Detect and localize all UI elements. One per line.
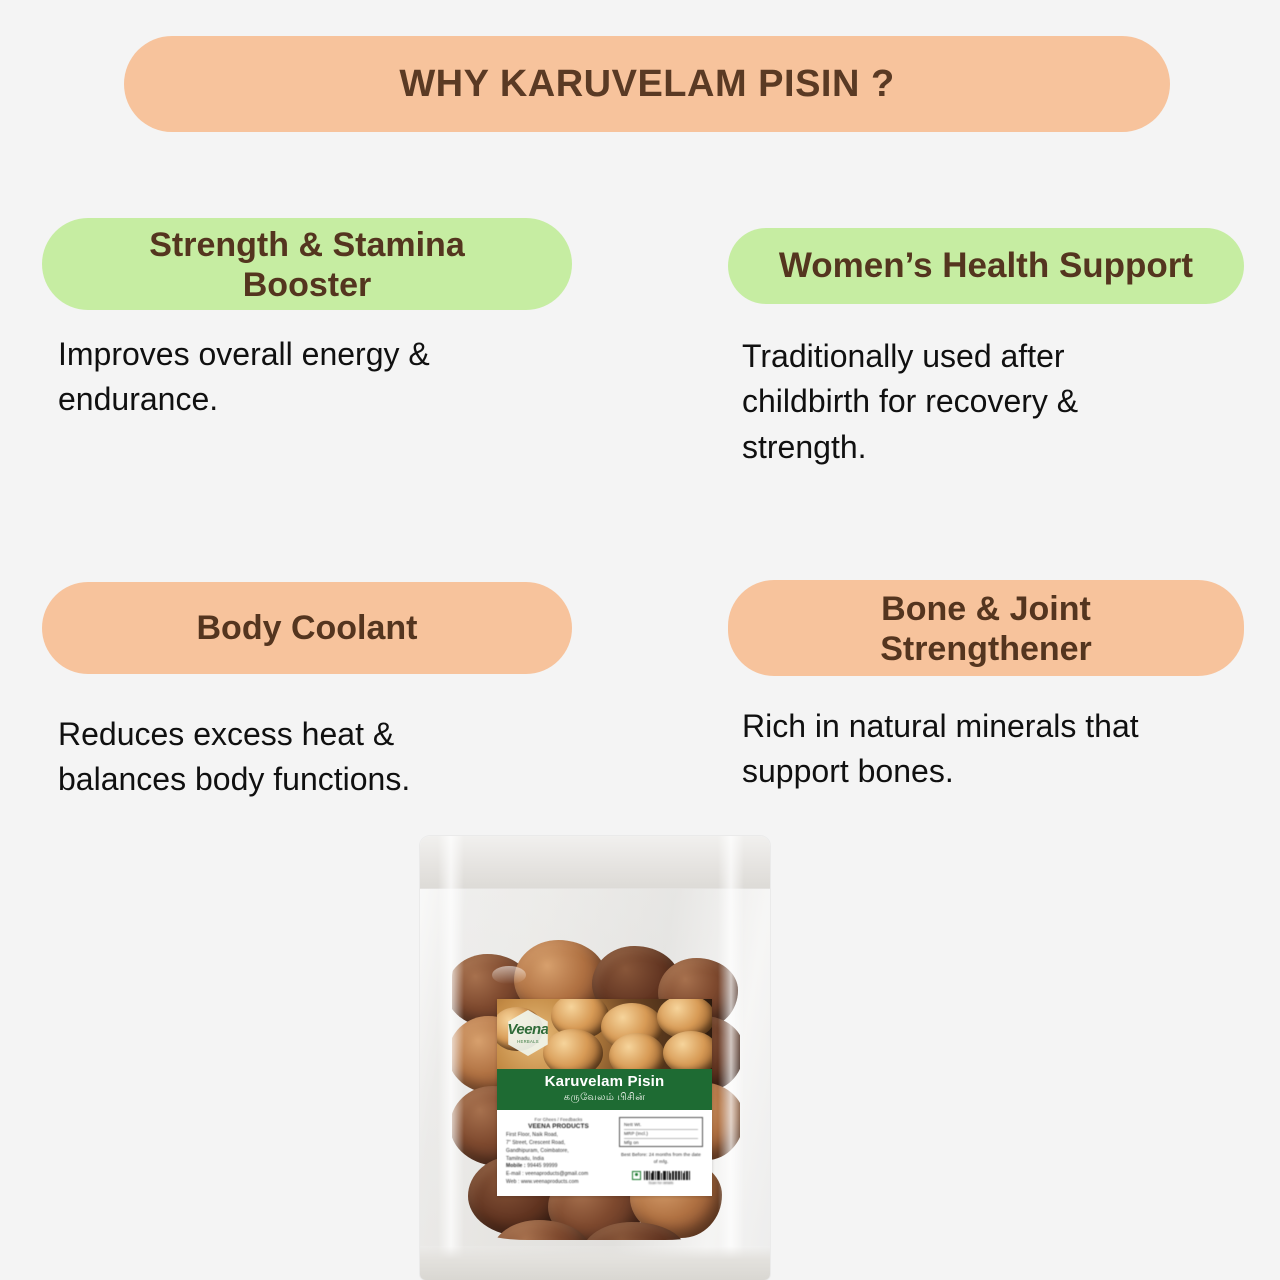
label-net-row-0: Nett Wt.	[624, 1121, 698, 1130]
label-address-line-3: Tamilnadu, India	[506, 1156, 611, 1164]
product-pouch: Veena HERBALS Karuvelam Pisin கருவேலம் ப…	[420, 836, 770, 1280]
label-address-line-2: Gandhipuram, Coimbatore,	[506, 1148, 611, 1156]
label-specs-block: Nett Wt. MRP (Incl.) Mfg on Best Before:…	[619, 1117, 703, 1187]
product-image: Veena HERBALS Karuvelam Pisin கருவேலம் ப…	[420, 836, 770, 1280]
benefit-heading-2: Body Coolant	[197, 608, 418, 648]
benefit-heading-pill-2: Body Coolant	[42, 582, 572, 674]
benefit-description-1: Traditionally used after childbirth for …	[728, 334, 1244, 470]
label-address-line-0: First Floor, Naik Road,	[506, 1132, 611, 1140]
label-title-band: Karuvelam Pisin கருவேலம் பிசின்	[497, 1069, 712, 1110]
benefit-heading-0: Strength & Stamina Booster	[149, 225, 464, 305]
benefit-card-womens-health-support: Women’s Health Support Traditionally use…	[728, 228, 1244, 470]
product-name-ta: கருவேலம் பிசின்	[497, 1092, 712, 1103]
label-info-header: For Ghees / Feedbacks	[506, 1117, 611, 1122]
barcode-icon	[644, 1171, 689, 1180]
label-best-before: Best Before: 24 months from the date of …	[619, 1152, 703, 1166]
label-company-name: VEENA PRODUCTS	[506, 1123, 611, 1130]
label-web-value: www.veenaproducts.com	[521, 1179, 579, 1185]
benefit-heading-pill-3: Bone & Joint Strengthener	[728, 580, 1244, 676]
benefit-heading-3: Bone & Joint Strengthener	[880, 589, 1092, 669]
veg-dot-icon	[632, 1171, 641, 1180]
label-web: Web : www.veenaproducts.com	[506, 1179, 611, 1187]
product-label: Veena HERBALS Karuvelam Pisin கருவேலம் ப…	[497, 999, 712, 1196]
pouch-top-seal	[420, 836, 770, 889]
benefit-description-0: Improves overall energy & endurance.	[42, 332, 572, 423]
benefit-card-bone-joint-strengthener: Bone & Joint Strengthener Rich in natura…	[728, 580, 1244, 795]
label-company-info: For Ghees / Feedbacks VEENA PRODUCTS Fir…	[506, 1117, 611, 1187]
brand-logo-subtitle: HERBALS	[517, 1039, 539, 1044]
pouch-bottom-gusset	[420, 1246, 770, 1280]
label-net-row-2: Mfg on	[624, 1139, 698, 1147]
label-veg-and-barcode	[619, 1171, 703, 1180]
benefit-heading-pill-0: Strength & Stamina Booster	[42, 218, 572, 310]
benefit-description-2: Reduces excess heat & balances body func…	[42, 712, 572, 803]
label-net-row-1: MRP (Incl.)	[624, 1130, 698, 1139]
brand-logo-mark: Veena	[507, 1022, 548, 1037]
label-web-label: Web :	[506, 1179, 519, 1185]
benefit-description-3: Rich in natural minerals that support bo…	[728, 704, 1244, 795]
label-net-weight-box: Nett Wt. MRP (Incl.) Mfg on	[619, 1117, 703, 1147]
product-name-en: Karuvelam Pisin	[497, 1074, 712, 1090]
label-mobile: Mobile : 99445 99999	[506, 1163, 611, 1171]
benefit-card-strength-stamina-booster: Strength & Stamina Booster Improves over…	[42, 218, 572, 423]
benefit-card-body-coolant: Body Coolant Reduces excess heat & balan…	[42, 582, 572, 803]
barcode-caption: Scan for details	[619, 1181, 703, 1185]
label-info-block: For Ghees / Feedbacks VEENA PRODUCTS Fir…	[497, 1110, 712, 1196]
label-product-photo: Veena HERBALS	[497, 999, 712, 1069]
label-email-label: E-mail :	[506, 1171, 524, 1177]
label-address-line-1: 7" Street, Crescent Road,	[506, 1140, 611, 1148]
benefit-heading-1: Women’s Health Support	[779, 245, 1193, 286]
label-email: E-mail : veenaproducts@gmail.com	[506, 1171, 611, 1179]
label-mobile-value: 99445 99999	[527, 1163, 557, 1169]
benefit-heading-pill-1: Women’s Health Support	[728, 228, 1244, 304]
label-mobile-label: Mobile :	[506, 1163, 526, 1169]
label-email-value: veenaproducts@gmail.com	[525, 1171, 588, 1177]
